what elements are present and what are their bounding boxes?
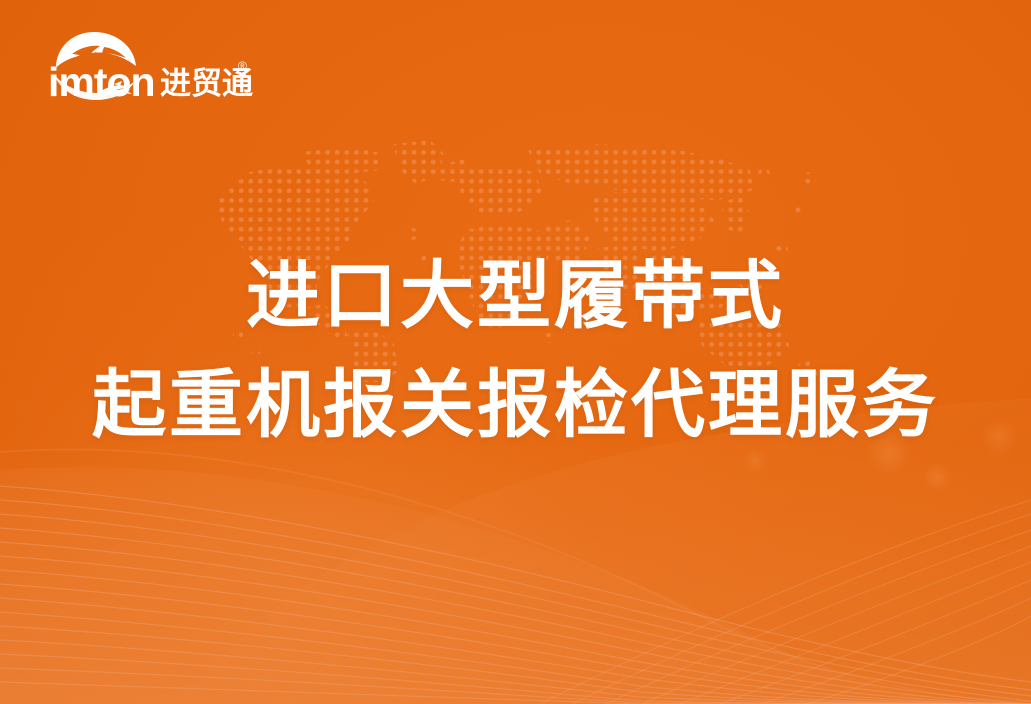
registered-mark: ®: [238, 59, 247, 73]
headline-line-1: 进口大型履带式: [0, 252, 1031, 339]
company-logo[interactable]: imton 进贸通 ®: [42, 28, 257, 106]
promo-banner: imton 进贸通 ® 进口大型履带式 起重机报关报检代理服务: [0, 0, 1031, 704]
background-glow-bottom: [0, 444, 1031, 704]
headline-line-2: 起重机报关报检代理服务: [0, 361, 1031, 448]
logo-latin-text: imton: [48, 59, 155, 105]
headline-block: 进口大型履带式 起重机报关报检代理服务: [0, 252, 1031, 449]
logo-artwork: imton 进贸通 ®: [42, 28, 257, 106]
